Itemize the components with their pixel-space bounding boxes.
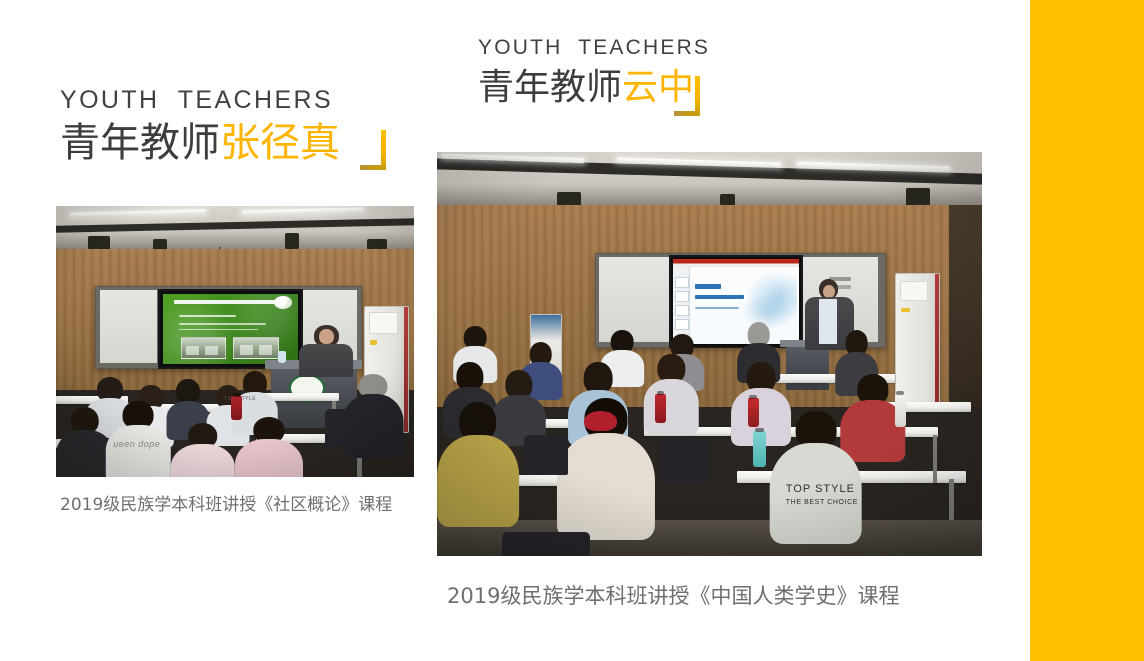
student-torso <box>235 439 303 477</box>
ac-side-stripe <box>935 274 939 403</box>
teal-water-bottle <box>753 431 766 467</box>
photo-pane <box>186 346 199 355</box>
ppt-thumbnail <box>675 291 690 301</box>
slide-subtitle-line <box>695 295 743 299</box>
slide-footnote-line <box>695 307 738 309</box>
left-photo-caption: 2019级民族学本科班讲授《社区概论》课程 <box>60 490 392 515</box>
right-eyebrow-text: YOUTH TEACHERS <box>478 36 710 60</box>
slide-embedded-photo <box>233 337 278 359</box>
left-classroom-photo: TOP STYLE ueen dope <box>56 206 414 477</box>
right-photo-scene: TOP STYLE THE BEST CHOICE <box>437 152 982 556</box>
bottle-cap <box>749 395 757 399</box>
red-hair-bow <box>584 411 617 431</box>
left-photo-scene: TOP STYLE ueen dope <box>56 206 414 477</box>
slide-body-line <box>179 329 258 331</box>
left-headline-prefix: 青年教师 <box>60 120 220 166</box>
presentation-slide: YOUTH TEACHERS 青年教师张径真 YOUTH TEACHERS 青年… <box>0 0 1144 661</box>
red-water-bottle <box>748 398 759 426</box>
chair-back <box>502 532 589 556</box>
red-water-bottle <box>655 394 666 422</box>
ac-display-panel <box>900 281 928 301</box>
photo-pane <box>205 346 218 355</box>
corner-bracket-vertical <box>381 130 386 170</box>
dark-wall-section <box>949 205 982 407</box>
left-headline-name: 张径真 <box>220 120 340 166</box>
student-figure <box>235 417 303 477</box>
right-headline-prefix: 青年教师 <box>478 67 622 108</box>
student-torso <box>557 433 655 540</box>
student-torso <box>106 425 170 477</box>
ac-display-panel <box>369 312 398 334</box>
hoodie-brand-line-2: THE BEST CHOICE <box>786 499 858 506</box>
left-headline: 青年教师张径真 <box>60 123 340 163</box>
right-photo-caption: 2019级民族学本科班讲授《中国人类学史》课程 <box>447 580 899 610</box>
student-torso <box>342 394 403 457</box>
ppt-thumbnail-rail <box>673 267 690 344</box>
ac-side-stripe <box>404 307 408 432</box>
wall-speaker <box>285 233 299 249</box>
corner-bracket-horizontal <box>674 111 700 116</box>
ac-badge <box>901 308 910 313</box>
left-eyebrow-text: YOUTH TEACHERS <box>60 86 340 115</box>
ppt-thumbnail <box>675 277 690 287</box>
water-bottle <box>278 351 286 363</box>
student-torso <box>437 435 519 527</box>
left-title-block: YOUTH TEACHERS 青年教师张径真 <box>60 86 340 163</box>
corner-bracket-icon <box>360 130 386 170</box>
slide-embedded-photo <box>181 337 226 359</box>
desk-leg <box>933 435 937 483</box>
ppt-ribbon <box>673 259 800 267</box>
student-figure <box>171 423 235 477</box>
right-classroom-photo: TOP STYLE THE BEST CHOICE <box>437 152 982 556</box>
slide-title-line <box>174 300 277 304</box>
slide-title-line <box>695 284 720 288</box>
corner-bracket-horizontal <box>360 165 386 170</box>
slide-logo-icon <box>274 296 292 309</box>
hoodie-brand-text: ueen dope <box>113 439 160 449</box>
right-accent-band <box>1030 0 1144 661</box>
photo-pane <box>240 345 254 354</box>
student-figure <box>342 374 403 455</box>
bottle-cap <box>896 391 904 395</box>
right-title-block: YOUTH TEACHERS 青年教师云中 <box>478 36 710 106</box>
whiteboard-left <box>100 290 157 363</box>
teacher-face <box>823 285 835 299</box>
teacher-body <box>299 344 353 377</box>
slide-body-line <box>179 323 266 325</box>
red-water-bottle <box>231 396 242 420</box>
photo-pane <box>259 345 272 354</box>
student-figure <box>56 407 113 477</box>
corner-bracket-vertical <box>695 76 700 116</box>
white-water-bottle <box>895 394 906 426</box>
bottle-cap <box>657 391 665 395</box>
ppt-thumbnail <box>675 319 690 329</box>
chair-back <box>660 439 709 483</box>
chair-back <box>524 435 568 475</box>
whiteboard-writing <box>829 277 851 281</box>
student-figure <box>437 402 519 523</box>
hoodie-brand-line-1: TOP STYLE <box>786 483 855 495</box>
student-torso <box>56 430 113 477</box>
bottle-cap <box>233 393 241 397</box>
slide-body-line <box>179 315 236 317</box>
teacher-face <box>319 329 333 344</box>
student-torso <box>171 444 235 477</box>
bottle-cap <box>755 428 764 432</box>
whiteboard-writing <box>835 285 851 289</box>
ppt-thumbnail <box>675 305 690 315</box>
student-figure <box>769 411 862 540</box>
ac-badge <box>370 340 377 345</box>
corner-bracket-icon <box>674 76 700 116</box>
